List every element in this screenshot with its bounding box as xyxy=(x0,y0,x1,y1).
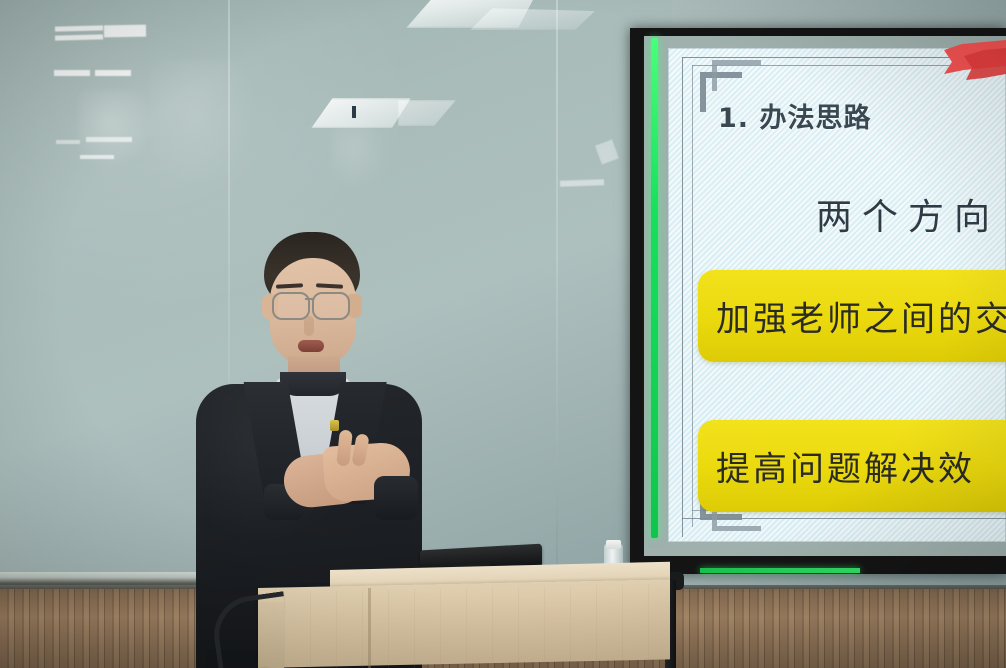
jacket-cuff xyxy=(374,476,418,520)
eyeglasses-lens xyxy=(272,292,310,320)
ceiling-light-reflection xyxy=(104,25,146,38)
ceiling-light-reflection xyxy=(95,70,131,76)
board-smudge xyxy=(78,90,158,170)
slide-border-line xyxy=(682,57,1006,58)
presenter-nose xyxy=(304,316,314,336)
water-bottle-cap xyxy=(606,540,621,549)
lapel-badge xyxy=(330,420,339,431)
board-seam xyxy=(556,0,558,586)
slide-subtitle: 两个方向 xyxy=(816,188,1000,240)
board-smudge xyxy=(330,120,390,190)
eyeglasses-bridge xyxy=(305,298,314,300)
slide-corner-ornament xyxy=(712,60,761,91)
ceiling-light-reflection xyxy=(56,140,80,144)
jacket-collar xyxy=(280,372,346,396)
slide-bullet-pill: 加强老师之间的交 xyxy=(698,270,1006,362)
board-smudge xyxy=(150,60,260,190)
bottom-edge-led-strip xyxy=(700,568,860,573)
slide-title: 1. 办法思路 xyxy=(718,96,871,135)
presenter-mouth xyxy=(298,340,324,352)
wooden-lectern xyxy=(258,579,670,668)
presentation-slide: 1. 办法思路 两个方向 加强老师之间的交 提高问题解决效 xyxy=(668,48,1006,542)
slide-bullet-pill: 提高问题解决效 xyxy=(698,420,1006,512)
lectern-panel-seam xyxy=(368,588,371,668)
window-reflection-detail xyxy=(352,106,356,118)
slide-border-line xyxy=(682,57,683,537)
eyeglasses-lens xyxy=(312,292,350,320)
slide-bullet-text: 提高问题解决效 xyxy=(716,442,975,491)
left-edge-led-strip xyxy=(651,38,658,538)
ceiling-light-reflection xyxy=(54,70,90,76)
slide-border-line xyxy=(692,65,693,527)
presenter-ear xyxy=(348,294,362,318)
slide-bullet-text: 加强老师之间的交 xyxy=(716,292,1006,341)
photo-scene: 1. 办法思路 两个方向 加强老师之间的交 提高问题解决效 xyxy=(0,0,1006,668)
